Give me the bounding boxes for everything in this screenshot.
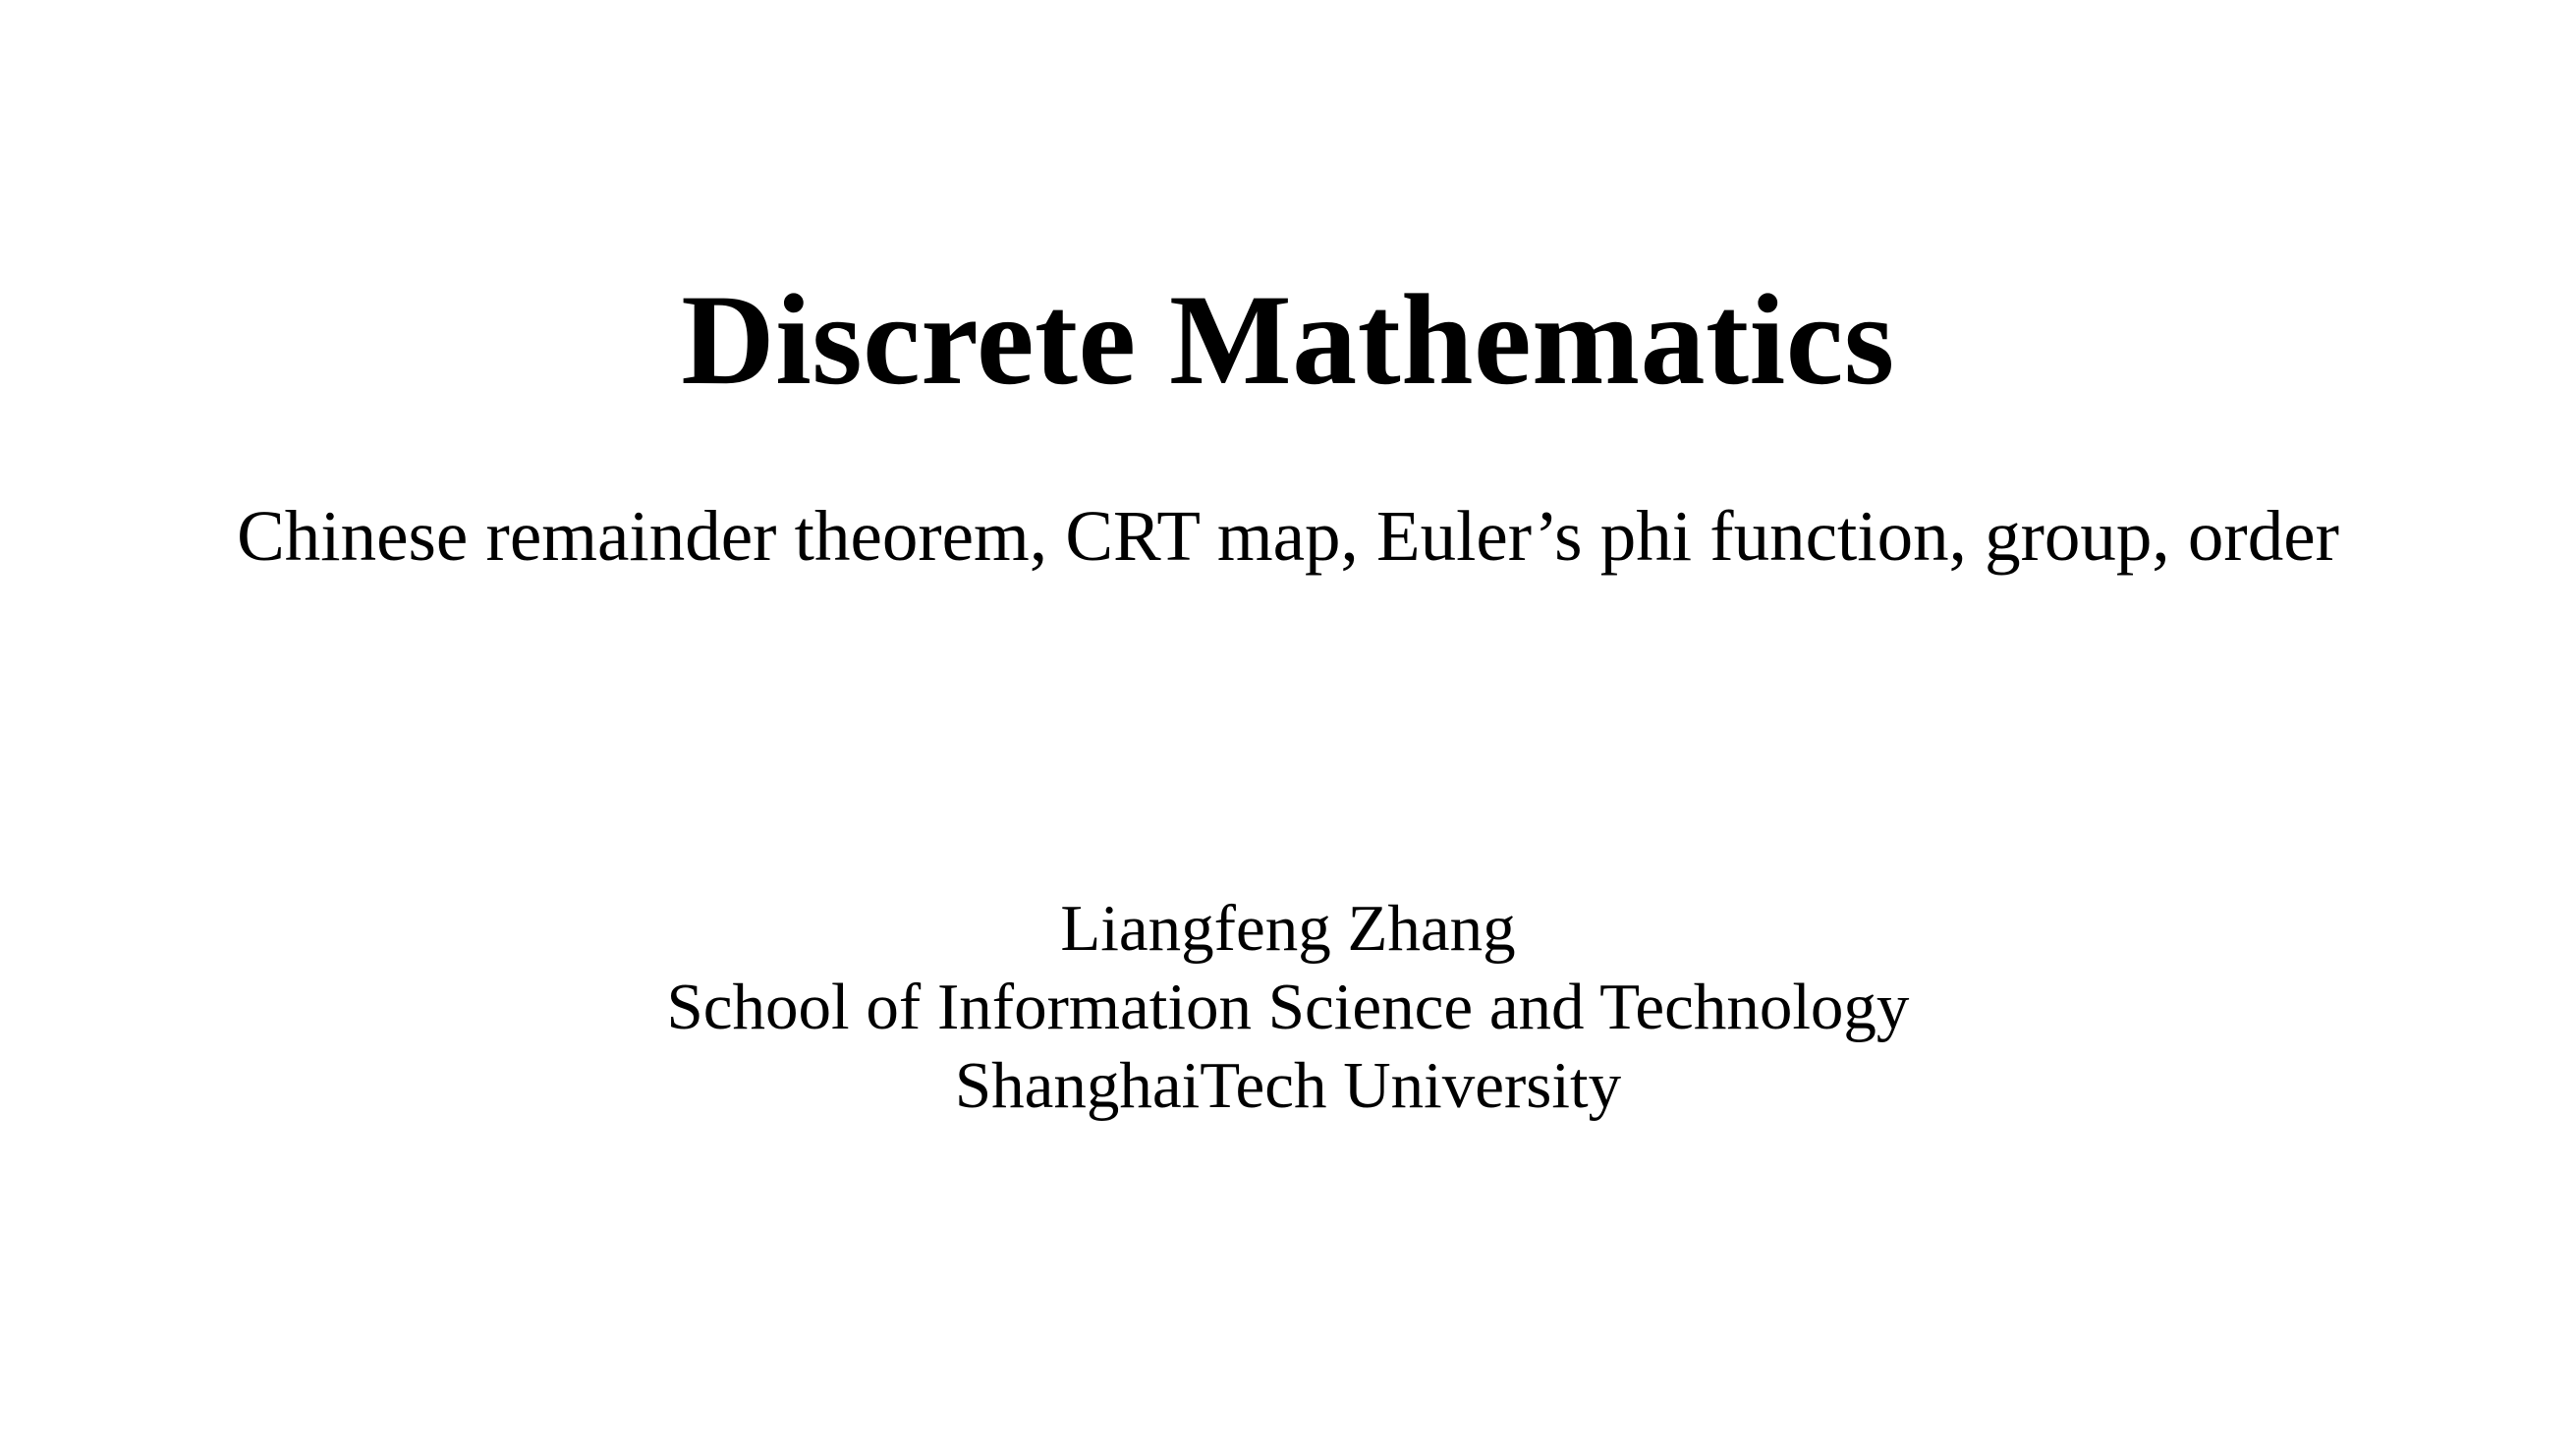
author-department: School of Information Science and Techno… bbox=[0, 968, 2576, 1046]
page-title: Discrete Mathematics bbox=[0, 270, 2576, 411]
presentation-title-slide: Discrete Mathematics Chinese remainder t… bbox=[0, 0, 2576, 1448]
author-institution: ShanghaiTech University bbox=[0, 1046, 2576, 1125]
author-name: Liangfeng Zhang bbox=[0, 889, 2576, 968]
slide-subtitle: Chinese remainder theorem, CRT map, Eule… bbox=[0, 497, 2576, 576]
title-block: Discrete Mathematics bbox=[0, 270, 2576, 411]
author-block: Liangfeng Zhang School of Information Sc… bbox=[0, 889, 2576, 1125]
subtitle-block: Chinese remainder theorem, CRT map, Eule… bbox=[0, 497, 2576, 576]
